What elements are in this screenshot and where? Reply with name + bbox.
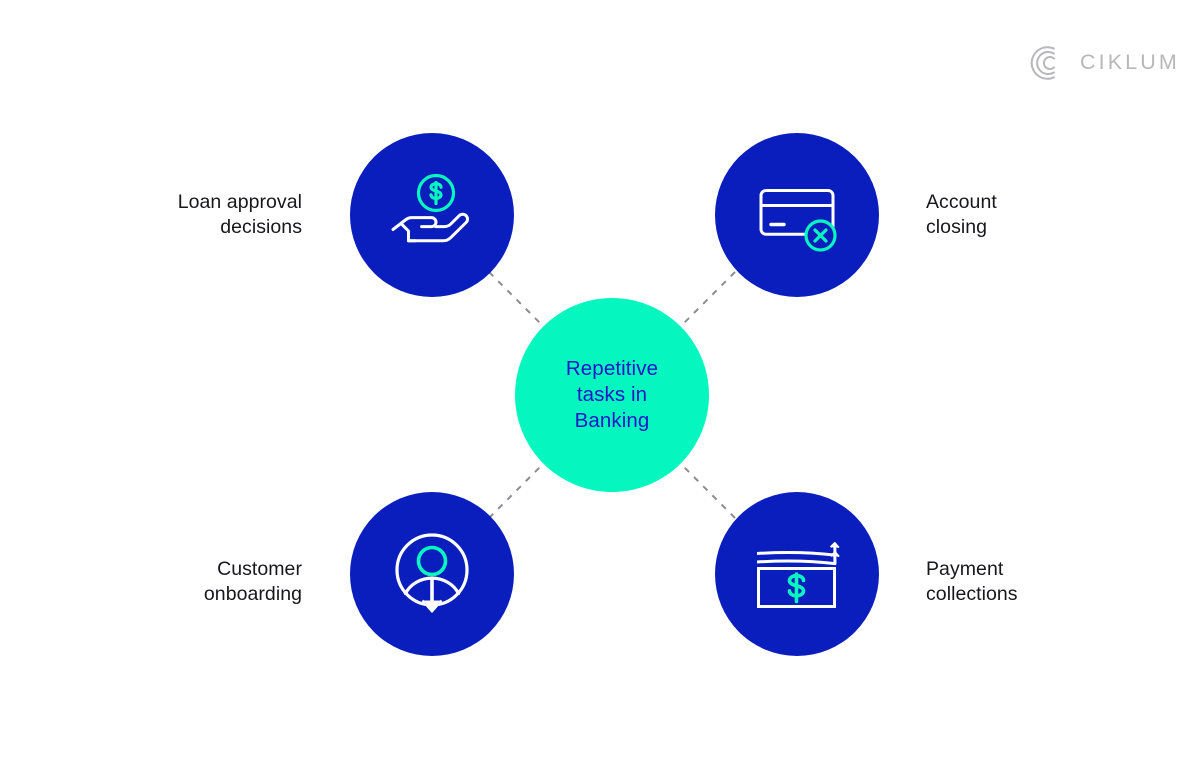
hub-label: Repetitive tasks in Banking [547,356,677,434]
user-download-arrow-icon [380,522,484,626]
credit-card-close-icon [745,163,849,267]
node-payment-collections[interactable] [715,492,879,656]
label-account-closing: Account closing [926,190,1126,239]
banknotes-dollar-icon [745,522,849,626]
connector-top-left [489,272,549,332]
label-customer-onboarding: Customer onboarding [132,557,302,606]
connector-top-right [675,272,735,332]
label-loan-approval-decisions: Loan approval decisions [132,190,302,239]
diagram-canvas: CIKLUM Repetitive tasks in Banking [0,0,1200,762]
connector-bottom-left [489,458,549,518]
connector-bottom-right [675,458,735,518]
label-payment-collections: Payment collections [926,557,1126,606]
hand-holding-dollar-coin-icon [380,163,484,267]
hub-circle: Repetitive tasks in Banking [515,298,709,492]
node-account-closing[interactable] [715,133,879,297]
node-loan-approval-decisions[interactable] [350,133,514,297]
node-customer-onboarding[interactable] [350,492,514,656]
